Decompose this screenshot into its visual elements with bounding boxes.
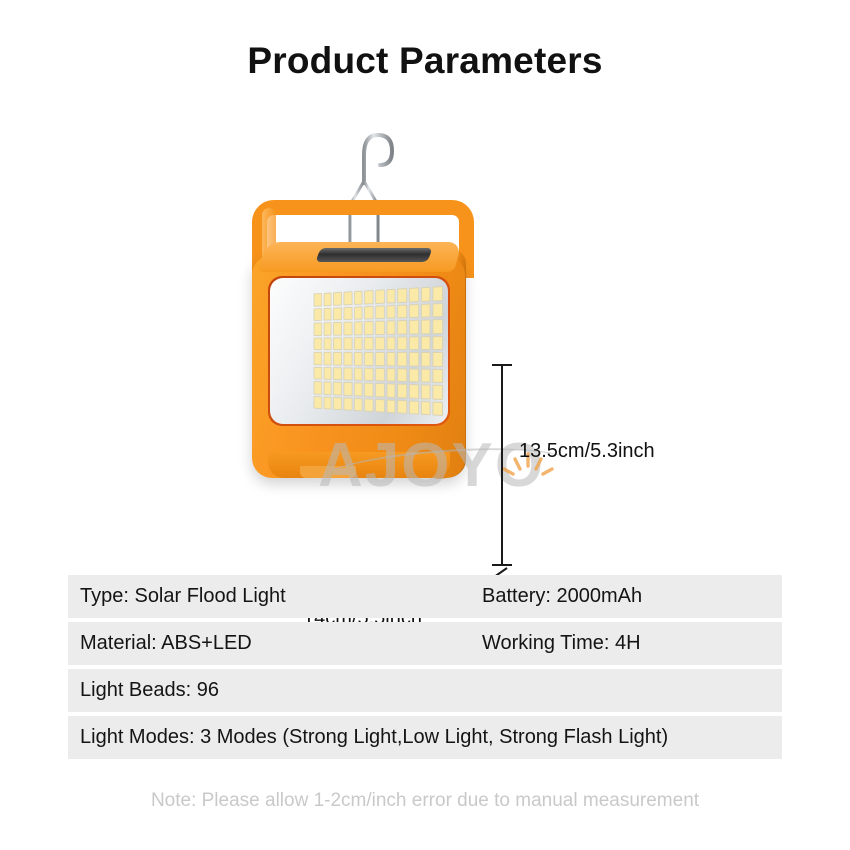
led-bead <box>323 292 331 305</box>
led-bead <box>421 303 431 318</box>
led-bead <box>333 322 342 335</box>
led-bead <box>364 398 373 412</box>
led-bead <box>409 400 419 415</box>
led-bead <box>364 290 373 304</box>
led-bead <box>354 382 363 396</box>
led-bead <box>344 322 353 335</box>
table-row: Light Beads: 96 <box>68 669 782 712</box>
led-bead <box>323 307 331 320</box>
led-bead <box>386 368 395 382</box>
led-bead <box>323 396 331 409</box>
solar-panel-strip <box>315 248 432 262</box>
led-bead <box>386 305 395 319</box>
led-bead <box>421 352 431 366</box>
table-row: Material: ABS+LED Working Time: 4H <box>68 622 782 665</box>
led-bead <box>375 352 384 366</box>
led-bead <box>386 383 395 397</box>
led-bead <box>397 399 407 413</box>
led-bead <box>433 352 443 367</box>
led-bead <box>433 336 443 351</box>
led-bead <box>323 352 331 365</box>
led-bead <box>397 288 407 302</box>
led-bead <box>364 336 373 350</box>
led-bead <box>386 336 395 350</box>
led-bead <box>386 399 395 413</box>
measurement-note: Note: Please allow 1-2cm/inch error due … <box>0 790 850 812</box>
table-row: Light Modes: 3 Modes (Strong Light,Low L… <box>68 716 782 759</box>
led-bead <box>421 384 431 399</box>
led-bead <box>364 305 373 319</box>
led-bead <box>354 398 363 412</box>
led-bead <box>333 397 342 411</box>
spec-material: Material: ABS+LED <box>68 632 470 655</box>
led-bead <box>397 304 407 318</box>
page-title: Product Parameters <box>0 40 850 82</box>
led-bead <box>433 303 443 318</box>
led-bead <box>333 367 342 380</box>
led-bead <box>409 287 419 302</box>
led-bead <box>354 291 363 305</box>
led-bead <box>323 367 331 380</box>
led-bead <box>314 308 322 321</box>
led-bead <box>333 292 342 306</box>
led-bead <box>344 367 353 380</box>
led-bead <box>409 352 419 366</box>
led-bead <box>386 289 395 303</box>
led-bead <box>314 337 322 350</box>
spec-light-modes: Light Modes: 3 Modes (Strong Light,Low L… <box>68 726 780 749</box>
led-bead <box>344 291 353 305</box>
height-dimension-line <box>501 365 503 565</box>
led-bead <box>397 368 407 382</box>
led-bead <box>409 368 419 382</box>
led-bead <box>323 322 331 335</box>
led-bead <box>433 401 443 416</box>
height-label: 13.5cm/5.3inch <box>519 440 655 463</box>
led-bead <box>333 307 342 320</box>
led-bead <box>375 321 384 335</box>
led-bead <box>433 368 443 383</box>
led-bead <box>375 383 384 397</box>
led-bead <box>314 396 322 409</box>
led-bead <box>375 367 384 381</box>
product-figure: AJOYO 13.5cm/5.3inch 14cm/5.5inch 4cm/1.… <box>0 100 850 550</box>
led-bead <box>344 382 353 396</box>
led-bead <box>333 337 342 350</box>
led-bead <box>344 306 353 320</box>
led-bead <box>344 397 353 411</box>
led-bead <box>397 352 407 366</box>
height-tick-top <box>492 364 512 366</box>
led-bead <box>409 304 419 318</box>
led-bead <box>421 401 431 416</box>
spec-working-time: Working Time: 4H <box>470 632 782 655</box>
led-bead <box>433 286 443 301</box>
led-bead <box>323 381 331 394</box>
led-bead <box>344 337 353 350</box>
led-bead <box>314 352 322 365</box>
led-bead <box>314 366 322 379</box>
spec-light-beads: Light Beads: 96 <box>68 679 470 702</box>
product-parameters-page: Product Parameters <box>0 0 850 850</box>
led-bead <box>421 368 431 382</box>
led-bead <box>421 336 431 350</box>
led-bead <box>333 352 342 365</box>
led-bead <box>375 336 384 350</box>
led-bead <box>314 322 322 335</box>
led-bead <box>397 336 407 350</box>
led-bead <box>433 319 443 334</box>
led-bead <box>364 321 373 335</box>
led-bead <box>333 382 342 395</box>
led-bead <box>375 289 384 303</box>
led-bead <box>364 383 373 397</box>
led-bead <box>314 381 322 394</box>
led-bead <box>354 321 363 335</box>
spec-battery: Battery: 2000mAh <box>470 585 782 608</box>
led-bead <box>354 352 363 365</box>
led-bead <box>386 320 395 334</box>
led-bead-grid <box>314 286 443 416</box>
table-row: Type: Solar Flood Light Battery: 2000mAh <box>68 575 782 618</box>
led-bead <box>421 319 431 333</box>
led-bead <box>433 385 443 400</box>
led-bead <box>421 287 431 302</box>
specifications-table: Type: Solar Flood Light Battery: 2000mAh… <box>68 575 782 763</box>
led-bead <box>397 320 407 334</box>
led-bead <box>354 337 363 350</box>
led-bead <box>375 305 384 319</box>
spec-type: Type: Solar Flood Light <box>68 585 470 608</box>
led-bead <box>409 384 419 398</box>
led-bead <box>397 384 407 398</box>
led-bead <box>409 336 419 350</box>
led-bead <box>375 398 384 412</box>
led-bead <box>364 352 373 366</box>
led-bead <box>364 367 373 381</box>
led-bead <box>409 320 419 334</box>
led-bead <box>323 337 331 350</box>
led-bead <box>386 352 395 366</box>
led-bead <box>314 293 322 306</box>
led-bead <box>354 367 363 381</box>
led-bead <box>344 352 353 365</box>
led-bead <box>354 306 363 320</box>
